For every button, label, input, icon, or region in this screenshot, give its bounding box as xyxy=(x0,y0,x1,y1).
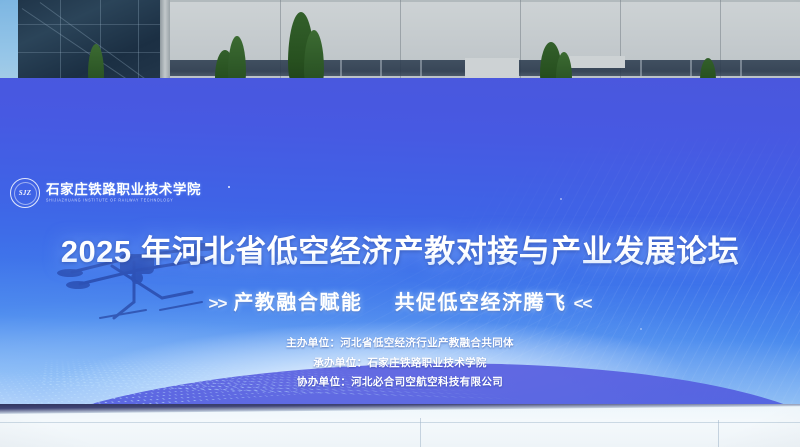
banner-bottom-edge xyxy=(0,404,800,414)
sparkle xyxy=(640,328,642,330)
window-mullion xyxy=(640,60,642,76)
organizer-list: 主办单位：河北省低空经济行业产教融合共同体 承办单位：石家庄铁路职业技术学院 协… xyxy=(0,338,800,397)
school-name-block: 石家庄铁路职业技术学院 SHIJIAZHUANG INSTITUTE OF RA… xyxy=(46,183,201,202)
left-chevron-icon: >> xyxy=(209,294,227,313)
school-logo-lockup: SJZ 石家庄铁路职业技术学院 SHIJIAZHUANG INSTITUTE O… xyxy=(10,178,201,208)
forum-banner: SJZ 石家庄铁路职业技术学院 SHIJIAZHUANG INSTITUTE O… xyxy=(0,78,800,408)
window-mullion xyxy=(690,60,692,76)
foreground-surface xyxy=(0,404,800,447)
sparkle xyxy=(228,186,230,188)
forum-subtitle: >> 产教融合赋能 共促低空经济腾飞 << xyxy=(0,286,800,315)
subtitle-text-left: 产教融合赋能 xyxy=(233,292,362,314)
building-top-band xyxy=(170,0,800,2)
sparkle xyxy=(560,198,562,200)
foreground-seam xyxy=(420,418,421,447)
school-seal-icon: SJZ xyxy=(10,178,40,208)
foreground-seam xyxy=(0,422,800,423)
foreground-seam xyxy=(718,420,719,447)
organizer-line: 协办单位：河北必合司空航空科技有限公司 xyxy=(0,377,800,388)
window-mullion xyxy=(380,60,382,76)
school-name-cn: 石家庄铁路职业技术学院 xyxy=(46,183,201,197)
glass-transom xyxy=(18,24,168,25)
window-mullion xyxy=(420,60,422,76)
school-name-en: SHIJIAZHUANG INSTITUTE OF RAILWAY TECHNO… xyxy=(46,198,201,203)
organizer-line: 承办单位：石家庄铁路职业技术学院 xyxy=(0,358,800,369)
forum-title: 2025 年河北省低空经济产教对接与产业发展论坛 xyxy=(0,233,800,272)
facade-panel xyxy=(465,58,519,78)
subtitle-text-right: 共促低空经济腾飞 xyxy=(395,292,567,314)
event-banner-photo: SJZ 石家庄铁路职业技术学院 SHIJIAZHUANG INSTITUTE O… xyxy=(0,0,800,447)
right-chevron-icon: << xyxy=(574,294,592,313)
seal-mark-text: SJZ xyxy=(19,189,32,197)
window-mullion xyxy=(340,60,342,76)
window-mullion xyxy=(740,60,742,76)
organizer-line: 主办单位：河北省低空经济行业产教融合共同体 xyxy=(0,338,800,349)
